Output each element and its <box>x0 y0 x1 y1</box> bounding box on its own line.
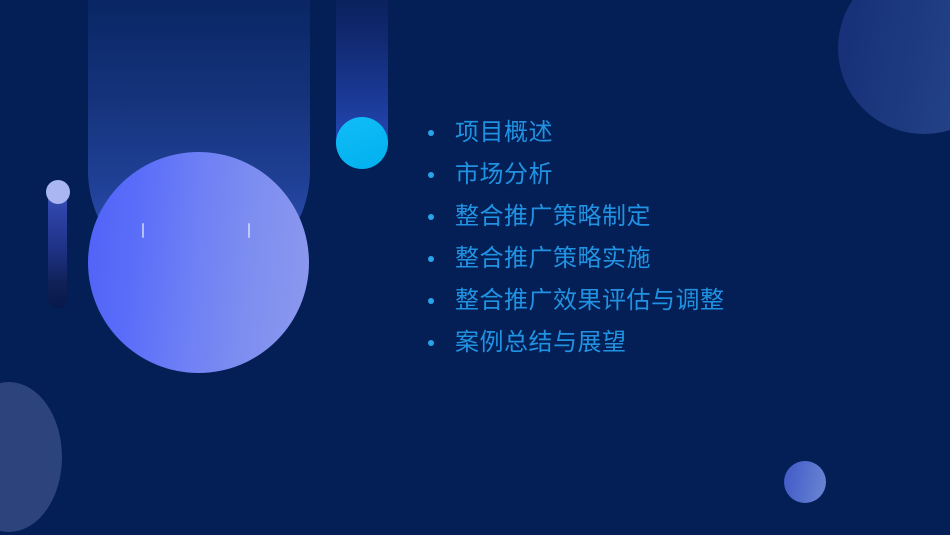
bullet-icon <box>428 130 434 136</box>
agenda-item-label: 案例总结与展望 <box>455 331 627 355</box>
agenda-item-2[interactable]: 市场分析 <box>420 154 920 196</box>
bullet-icon <box>428 256 434 262</box>
decorative-thin-bar-dot <box>46 180 70 204</box>
agenda-item-label: 整合推广效果评估与调整 <box>455 289 725 313</box>
agenda-item-3[interactable]: 整合推广策略制定 <box>420 196 920 238</box>
agenda-item-1[interactable]: 项目概述 <box>420 112 920 154</box>
agenda-item-label: 项目概述 <box>455 121 553 145</box>
decorative-wide-bar <box>88 0 310 282</box>
decorative-large-circle <box>88 152 309 373</box>
bullet-icon <box>428 214 434 220</box>
agenda-list: 项目概述 市场分析 整合推广策略制定 整合推广策略实施 整合推广效果评估与调整 … <box>420 112 920 364</box>
decorative-tick-right <box>248 223 250 238</box>
agenda-item-6[interactable]: 案例总结与展望 <box>420 322 920 364</box>
agenda-item-5[interactable]: 整合推广效果评估与调整 <box>420 280 920 322</box>
bullet-icon <box>428 298 434 304</box>
bullet-icon <box>428 340 434 346</box>
decorative-bottom-right-circle <box>784 461 826 503</box>
agenda-item-label: 市场分析 <box>455 163 553 187</box>
decorative-thin-bar <box>48 186 67 308</box>
agenda-item-label: 整合推广策略实施 <box>455 247 651 271</box>
agenda-item-4[interactable]: 整合推广策略实施 <box>420 238 920 280</box>
bullet-icon <box>428 172 434 178</box>
presentation-slide: 项目概述 市场分析 整合推广策略制定 整合推广策略实施 整合推广效果评估与调整 … <box>0 0 950 535</box>
agenda-item-label: 整合推广策略制定 <box>455 205 651 229</box>
decorative-tick-left <box>142 223 144 238</box>
decorative-narrow-bar <box>336 0 388 168</box>
decorative-bottom-left-circle <box>0 382 62 532</box>
decorative-cyan-circle <box>336 117 388 169</box>
